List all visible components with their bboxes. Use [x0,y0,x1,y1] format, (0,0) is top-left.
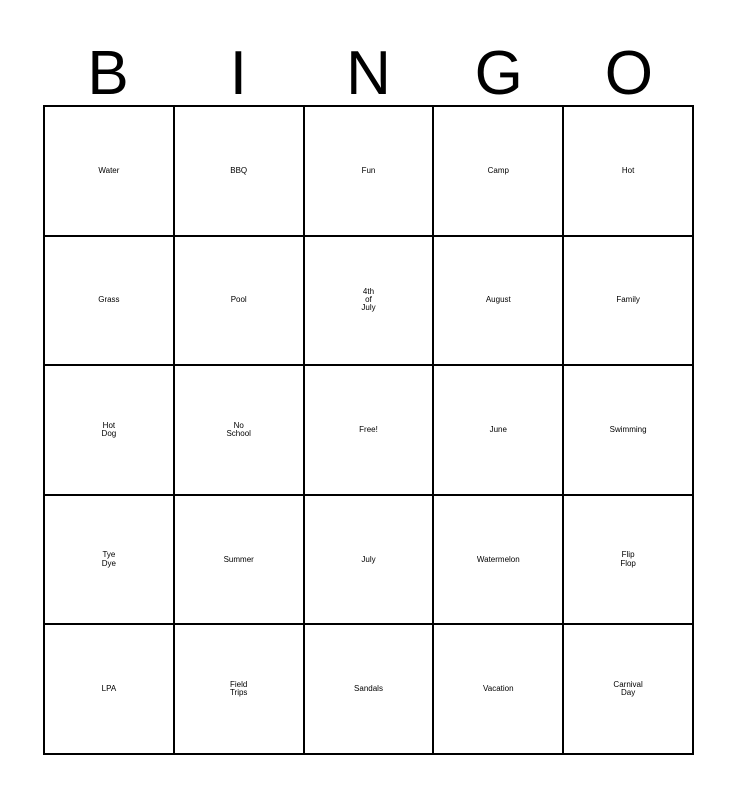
bingo-cell-label: Swimming [567,426,689,434]
bingo-cell-label: Hot [567,167,689,175]
bingo-cell-label: Hot Dog [48,422,170,438]
header-letter-n: N [303,43,433,105]
bingo-cell-r5-c5[interactable]: Carnival Day [564,625,694,755]
header-letter-i: I [173,43,303,105]
bingo-cell-r3-c2[interactable]: No School [175,366,305,496]
bingo-cell-r2-c5[interactable]: Family [564,237,694,367]
bingo-cell-r1-c4[interactable]: Camp [434,107,564,237]
bingo-cell-r2-c4[interactable]: August [434,237,564,367]
bingo-cell-label: Camp [437,167,559,175]
bingo-cell-label: June [437,426,559,434]
bingo-cell-r4-c4[interactable]: Watermelon [434,496,564,626]
bingo-cell-label: Flip Flop [567,551,689,567]
bingo-cell-r2-c1[interactable]: Grass [45,237,175,367]
bingo-cell-r4-c2[interactable]: Summer [175,496,305,626]
bingo-cell-r1-c2[interactable]: BBQ [175,107,305,237]
bingo-cell-r3-c5[interactable]: Swimming [564,366,694,496]
bingo-cell-label: Water [48,167,170,175]
bingo-cell-r4-c1[interactable]: Tye Dye [45,496,175,626]
bingo-cell-label: August [437,296,559,304]
bingo-cell-label: Pool [178,296,300,304]
bingo-grid: WaterBBQFunCampHotGrassPool4th of JulyAu… [43,105,694,755]
bingo-cell-r1-c3[interactable]: Fun [305,107,435,237]
bingo-cell-r1-c1[interactable]: Water [45,107,175,237]
bingo-cell-r4-c5[interactable]: Flip Flop [564,496,694,626]
bingo-cell-r3-c1[interactable]: Hot Dog [45,366,175,496]
bingo-cell-label: Summer [178,556,300,564]
bingo-card: B I N G O WaterBBQFunCampHotGrassPool4th… [0,0,736,800]
bingo-cell-label: Watermelon [437,556,559,564]
bingo-cell-label: Tye Dye [48,551,170,567]
bingo-cell-label: Family [567,296,689,304]
bingo-cell-label: Vacation [437,685,559,693]
bingo-cell-label: BBQ [178,167,300,175]
bingo-cell-label: Grass [48,296,170,304]
bingo-cell-label: July [308,556,430,564]
bingo-cell-label: LPA [48,685,170,693]
header-letter-o: O [564,43,694,105]
bingo-cell-r5-c3[interactable]: Sandals [305,625,435,755]
bingo-cell-label: Carnival Day [567,681,689,697]
bingo-cell-r1-c5[interactable]: Hot [564,107,694,237]
bingo-cell-r5-c2[interactable]: Field Trips [175,625,305,755]
bingo-cell-label: No School [178,422,300,438]
header-letter-g: G [434,43,564,105]
bingo-cell-label: Fun [308,167,430,175]
header-letter-b: B [43,43,173,105]
bingo-cell-r2-c3[interactable]: 4th of July [305,237,435,367]
bingo-cell-label: 4th of July [308,288,430,312]
bingo-cell-r2-c2[interactable]: Pool [175,237,305,367]
bingo-cell-label: Sandals [308,685,430,693]
bingo-cell-r5-c4[interactable]: Vacation [434,625,564,755]
bingo-cell-r5-c1[interactable]: LPA [45,625,175,755]
bingo-cell-r4-c3[interactable]: July [305,496,435,626]
bingo-cell-label: Field Trips [178,681,300,697]
bingo-header-row: B I N G O [43,30,694,105]
bingo-cell-r3-c3[interactable]: Free! [305,366,435,496]
bingo-cell-r3-c4[interactable]: June [434,366,564,496]
bingo-cell-label: Free! [308,426,430,434]
